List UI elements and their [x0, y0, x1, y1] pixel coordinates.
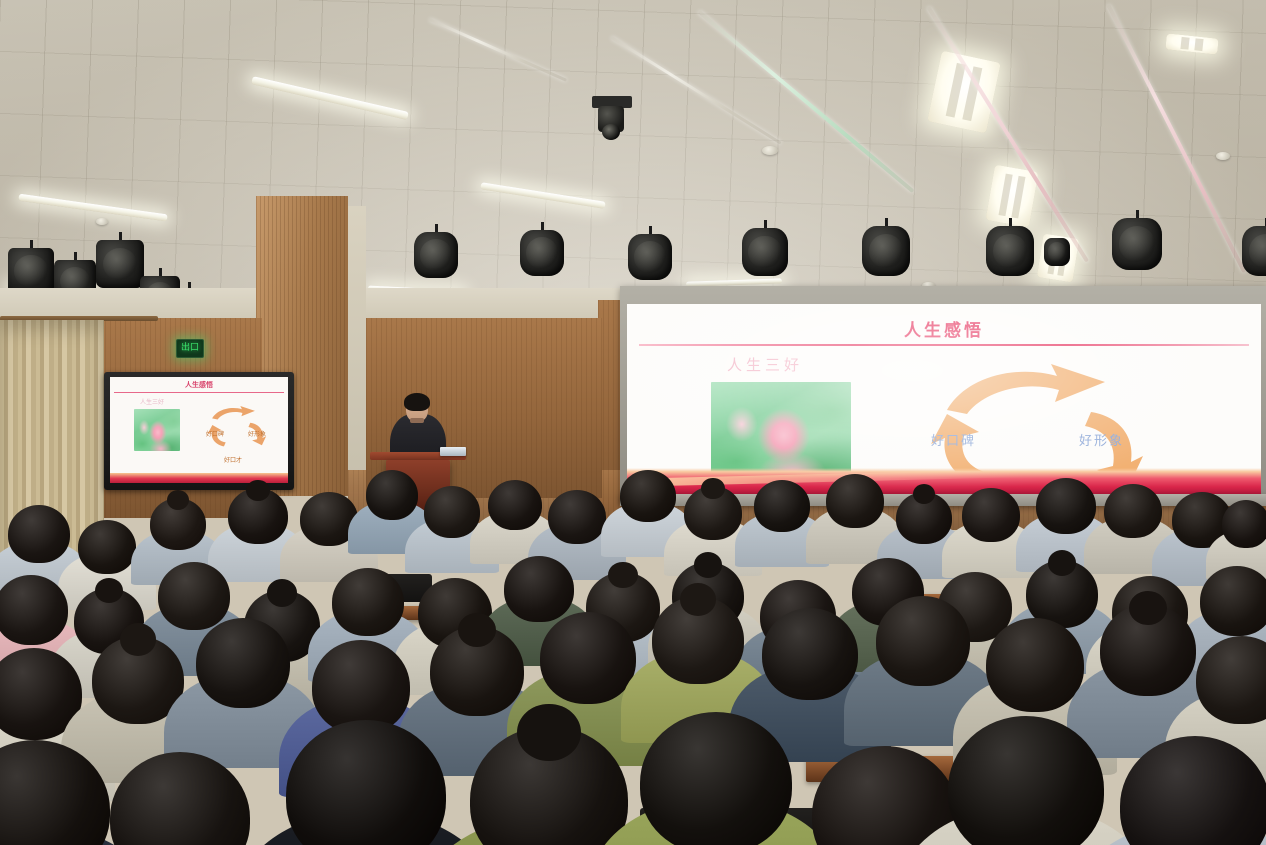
- lecture-hall-photo: 出口 人生感悟 人生三好 好口碑 好形象 好口才 人生感悟 人生三好: [0, 0, 1266, 845]
- audience-member: [286, 720, 446, 845]
- person-head: [620, 470, 676, 522]
- audience-member: [470, 726, 628, 845]
- person-head: [0, 575, 68, 645]
- audience-member: [1104, 484, 1162, 538]
- audience-member: [488, 480, 542, 530]
- audience-seating-area: [0, 0, 1266, 845]
- person-head: [540, 612, 636, 704]
- person-head: [986, 618, 1084, 712]
- person-head: [640, 712, 792, 845]
- audience-member: [1036, 478, 1096, 534]
- audience-member: [0, 740, 110, 845]
- hair-bun: [1048, 550, 1077, 576]
- audience-member: [110, 752, 250, 845]
- hair-bun: [458, 613, 496, 647]
- person-head: [762, 608, 858, 700]
- hair-bun: [517, 704, 580, 761]
- audience-member: [640, 712, 792, 845]
- audience-member: [986, 618, 1084, 712]
- person-head: [1200, 566, 1266, 636]
- person-head: [332, 568, 404, 636]
- audience-member: [424, 486, 480, 538]
- audience-member: [430, 626, 524, 716]
- hair-bun: [694, 552, 723, 578]
- person-head: [366, 470, 418, 520]
- person-head: [962, 488, 1020, 542]
- audience-member: [196, 618, 290, 708]
- audience-member: [1100, 604, 1196, 696]
- person-head: [488, 480, 542, 530]
- person-head: [1222, 500, 1266, 548]
- person-head: [548, 490, 606, 544]
- audience-member: [8, 505, 70, 563]
- audience-member: [228, 488, 288, 544]
- person-head: [876, 596, 970, 686]
- audience-member: [548, 490, 606, 544]
- person-head: [110, 752, 250, 845]
- person-head: [1036, 478, 1096, 534]
- person-head: [1120, 736, 1266, 845]
- person-head: [0, 740, 110, 845]
- audience-member: [1196, 636, 1266, 724]
- audience-member: [620, 470, 676, 522]
- audience-member: [1120, 736, 1266, 845]
- audience-member: [366, 470, 418, 520]
- audience-member: [78, 520, 136, 574]
- person-head: [754, 480, 810, 532]
- person-head: [948, 716, 1104, 845]
- person-head: [196, 618, 290, 708]
- audience-member: [948, 716, 1104, 845]
- audience-member: [876, 596, 970, 686]
- person-head: [8, 505, 70, 563]
- audience-member: [652, 596, 744, 684]
- audience-member: [684, 486, 742, 540]
- person-head: [1196, 636, 1266, 724]
- audience-member: [762, 608, 858, 700]
- audience-member: [540, 612, 636, 704]
- person-head: [1104, 484, 1162, 538]
- audience-member: [0, 575, 68, 645]
- hair-bun: [246, 480, 270, 502]
- hair-bun: [267, 579, 297, 606]
- hair-bun: [608, 562, 638, 589]
- audience-member: [150, 498, 206, 550]
- audience-member: [1222, 500, 1266, 548]
- person-head: [78, 520, 136, 574]
- person-head: [826, 474, 884, 528]
- hair-bun: [1129, 591, 1167, 626]
- hair-bun: [701, 478, 724, 499]
- audience-member: [826, 474, 884, 528]
- audience-member: [1200, 566, 1266, 636]
- audience-member: [332, 568, 404, 636]
- audience-member: [962, 488, 1020, 542]
- person-head: [286, 720, 446, 845]
- person-head: [424, 486, 480, 538]
- audience-member: [896, 492, 952, 544]
- audience-member: [754, 480, 810, 532]
